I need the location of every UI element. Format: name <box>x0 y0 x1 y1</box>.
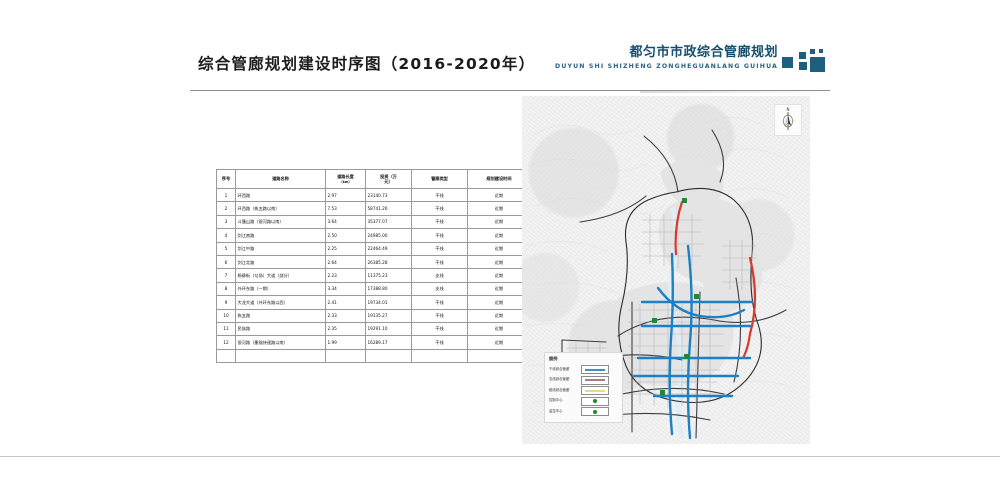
cell-length: 2.35 <box>326 322 366 335</box>
col-header-investment-main: 投资（万 <box>380 174 397 179</box>
table-body: 1环西路2.9723140.73干线近期2环西路（栋五路以南）7.5358741… <box>217 189 531 363</box>
cell-investment: 35377.07 <box>366 215 412 228</box>
cell-road-name: 栋五路 <box>236 309 326 322</box>
cell-empty <box>366 349 412 362</box>
legend-item-swatch <box>581 365 609 374</box>
cell-tunnel-type: 干线 <box>412 336 468 349</box>
legend-item: 干线综合管廊 <box>549 365 619 374</box>
cell-investment: 16289.17 <box>366 336 412 349</box>
cell-index: 6 <box>217 255 236 268</box>
cell-investment: 23140.73 <box>366 189 412 202</box>
logo-square <box>799 62 807 70</box>
brand-title-en: DUYUN SHI SHIZHENG ZONGHEGUANLANG GUIHUA <box>555 63 778 70</box>
compass-svg: N <box>775 105 801 135</box>
cell-tunnel-type: 干线 <box>412 229 468 242</box>
cell-empty <box>217 349 236 362</box>
col-header-investment-sub: 元） <box>384 179 392 184</box>
control-center-marker <box>694 294 699 299</box>
table-row: 6剑江北路2.6426385.28干线近期 <box>217 255 531 268</box>
legend-item-label: 支线综合管廊 <box>549 378 581 381</box>
schedule-table: 序号 道路名称 道路长度 （km） 投资（万 元） 管廊类型 规划建设时间 1环… <box>216 169 531 363</box>
cell-investment: 24985.00 <box>366 229 412 242</box>
legend-line-icon <box>585 369 605 371</box>
table-row: 4剑江南路2.5024985.00干线近期 <box>217 229 531 242</box>
cell-investment: 26385.28 <box>366 255 412 268</box>
col-header-investment: 投资（万 元） <box>366 170 412 189</box>
legend-title: 图例 <box>549 356 619 362</box>
col-header-length-main: 道路长度 <box>337 174 354 179</box>
cell-tunnel-type: 干线 <box>412 322 468 335</box>
table-row: 5剑江中路2.2522464.49干线近期 <box>217 242 531 255</box>
control-center-marker <box>660 390 665 395</box>
cell-length: 2.41 <box>326 296 366 309</box>
cell-index: 12 <box>217 336 236 349</box>
cell-empty <box>412 349 468 362</box>
legend-item-label: 监控中心 <box>549 410 581 413</box>
cell-tunnel-type: 干线 <box>412 309 468 322</box>
cell-investment: 19291.10 <box>366 322 412 335</box>
cell-length: 2.33 <box>326 309 366 322</box>
cell-index: 4 <box>217 229 236 242</box>
cell-road-name: 银河路（墨福快速路以南） <box>236 336 326 349</box>
logo-square <box>819 49 823 53</box>
cell-investment: 19135.27 <box>366 309 412 322</box>
cell-road-name: 外环东路（一期） <box>236 282 326 295</box>
logo-square <box>799 52 806 59</box>
table-row: 1环西路2.9723140.73干线近期 <box>217 189 531 202</box>
cell-tunnel-type: 支线 <box>412 269 468 282</box>
legend-item-swatch <box>581 407 609 416</box>
legend-item-label: 缆线综合管廊 <box>549 389 581 392</box>
table-row: 2环西路（栋五路以南）7.5358741.26干线近期 <box>217 202 531 215</box>
svg-text:N: N <box>787 107 790 112</box>
cell-investment: 19734.01 <box>366 296 412 309</box>
cell-road-name: 环西路 <box>236 189 326 202</box>
planning-map[interactable]: N 图例 干线综合管廊支线综合管廊缆线综合管廊控制中心监控中心 <box>522 96 810 444</box>
cell-length: 3.64 <box>326 215 366 228</box>
cell-length: 7.53 <box>326 202 366 215</box>
cell-tunnel-type: 干线 <box>412 202 468 215</box>
cell-road-name: 杨柳街（匀场）大道（部分） <box>236 269 326 282</box>
table-row: 3斗篷山路（银河路以南）3.6435377.07干线近期 <box>217 215 531 228</box>
cell-length: 2.64 <box>326 255 366 268</box>
cell-tunnel-type: 干线 <box>412 215 468 228</box>
table-row: 9大龙大道（外环东路以西）2.4119734.01干线近期 <box>217 296 531 309</box>
cell-tunnel-type: 干线 <box>412 296 468 309</box>
cell-index: 5 <box>217 242 236 255</box>
cell-length: 2.23 <box>326 269 366 282</box>
cell-tunnel-type: 干线 <box>412 242 468 255</box>
logo-square <box>782 57 793 68</box>
table-row: 10栋五路2.3319135.27干线近期 <box>217 309 531 322</box>
cell-length: 3.34 <box>326 282 366 295</box>
logo-square <box>810 49 815 54</box>
table-row: 11民族路2.3519291.10干线近期 <box>217 322 531 335</box>
schedule-table-container: 序号 道路名称 道路长度 （km） 投资（万 元） 管廊类型 规划建设时间 1环… <box>216 169 506 363</box>
cell-index: 8 <box>217 282 236 295</box>
cell-investment: 22464.49 <box>366 242 412 255</box>
legend-line-icon <box>585 390 605 392</box>
page-sheet: 综合管廊规划建设时序图（2016-2020年） 都匀市市政综合管廊规划 DUYU… <box>0 0 1000 500</box>
table-row-empty <box>217 349 531 362</box>
legend-dot-icon <box>593 410 597 414</box>
cell-road-name: 环西路（栋五路以南） <box>236 202 326 215</box>
cell-road-name: 剑江北路 <box>236 255 326 268</box>
cell-length: 2.50 <box>326 229 366 242</box>
cell-tunnel-type: 干线 <box>412 189 468 202</box>
logo-square <box>810 57 825 72</box>
compass-north-icon: N <box>774 104 802 136</box>
legend-item: 缆线综合管廊 <box>549 386 619 395</box>
cell-index: 10 <box>217 309 236 322</box>
header-divider-fade <box>640 91 830 93</box>
control-center-marker <box>684 354 689 359</box>
table-row: 7杨柳街（匀场）大道（部分）2.2311375.23支线近期 <box>217 269 531 282</box>
cell-index: 11 <box>217 322 236 335</box>
cell-road-name: 大龙大道（外环东路以西） <box>236 296 326 309</box>
control-center-marker <box>682 198 687 203</box>
cell-index: 2 <box>217 202 236 215</box>
legend-item: 监控中心 <box>549 407 619 416</box>
control-center-marker <box>652 318 657 323</box>
cell-road-name: 剑江南路 <box>236 229 326 242</box>
cell-road-name: 民族路 <box>236 322 326 335</box>
cell-road-name: 剑江中路 <box>236 242 326 255</box>
cell-road-name: 斗篷山路（银河路以南） <box>236 215 326 228</box>
cell-index: 1 <box>217 189 236 202</box>
page-header: 综合管廊规划建设时序图（2016-2020年） 都匀市市政综合管廊规划 DUYU… <box>190 44 830 88</box>
col-header-tunnel-type: 管廊类型 <box>412 170 468 189</box>
col-header-length: 道路长度 （km） <box>326 170 366 189</box>
legend-dot-icon <box>593 399 597 403</box>
cell-index: 7 <box>217 269 236 282</box>
legend-item: 控制中心 <box>549 397 619 406</box>
page-title: 综合管廊规划建设时序图（2016-2020年） <box>198 52 535 74</box>
table-header: 序号 道路名称 道路长度 （km） 投资（万 元） 管廊类型 规划建设时间 <box>217 170 531 189</box>
table-header-row: 序号 道路名称 道路长度 （km） 投资（万 元） 管廊类型 规划建设时间 <box>217 170 531 189</box>
cell-tunnel-type: 干线 <box>412 255 468 268</box>
cell-length: 2.25 <box>326 242 366 255</box>
cell-empty <box>236 349 326 362</box>
table-row: 12银河路（墨福快速路以南）1.9916289.17干线近期 <box>217 336 531 349</box>
legend-item-label: 干线综合管廊 <box>549 368 581 371</box>
col-header-index: 序号 <box>217 170 236 189</box>
cell-length: 2.97 <box>326 189 366 202</box>
cell-investment: 17388.80 <box>366 282 412 295</box>
cell-investment: 11375.23 <box>366 269 412 282</box>
legend-rows: 干线综合管廊支线综合管廊缆线综合管廊控制中心监控中心 <box>549 365 619 416</box>
col-header-road-name: 道路名称 <box>236 170 326 189</box>
cell-length: 1.99 <box>326 336 366 349</box>
legend-line-icon <box>585 379 605 381</box>
map-legend: 图例 干线综合管廊支线综合管廊缆线综合管廊控制中心监控中心 <box>544 352 623 423</box>
legend-item-swatch <box>581 386 609 395</box>
cell-empty <box>326 349 366 362</box>
cell-tunnel-type: 支线 <box>412 282 468 295</box>
cell-index: 9 <box>217 296 236 309</box>
legend-item-swatch <box>581 376 609 385</box>
legend-item: 支线综合管廊 <box>549 376 619 385</box>
brand-block: 都匀市市政综合管廊规划 DUYUN SHI SHIZHENG ZONGHEGUA… <box>555 46 778 70</box>
brand-squares-logo-icon <box>782 48 830 74</box>
cell-index: 3 <box>217 215 236 228</box>
footer-divider <box>0 456 1000 457</box>
col-header-length-unit: （km） <box>339 180 352 184</box>
legend-item-swatch <box>581 397 609 406</box>
cell-investment: 58741.26 <box>366 202 412 215</box>
table-row: 8外环东路（一期）3.3417388.80支线近期 <box>217 282 531 295</box>
brand-title-cn: 都匀市市政综合管廊规划 <box>555 46 778 61</box>
legend-item-label: 控制中心 <box>549 399 581 402</box>
